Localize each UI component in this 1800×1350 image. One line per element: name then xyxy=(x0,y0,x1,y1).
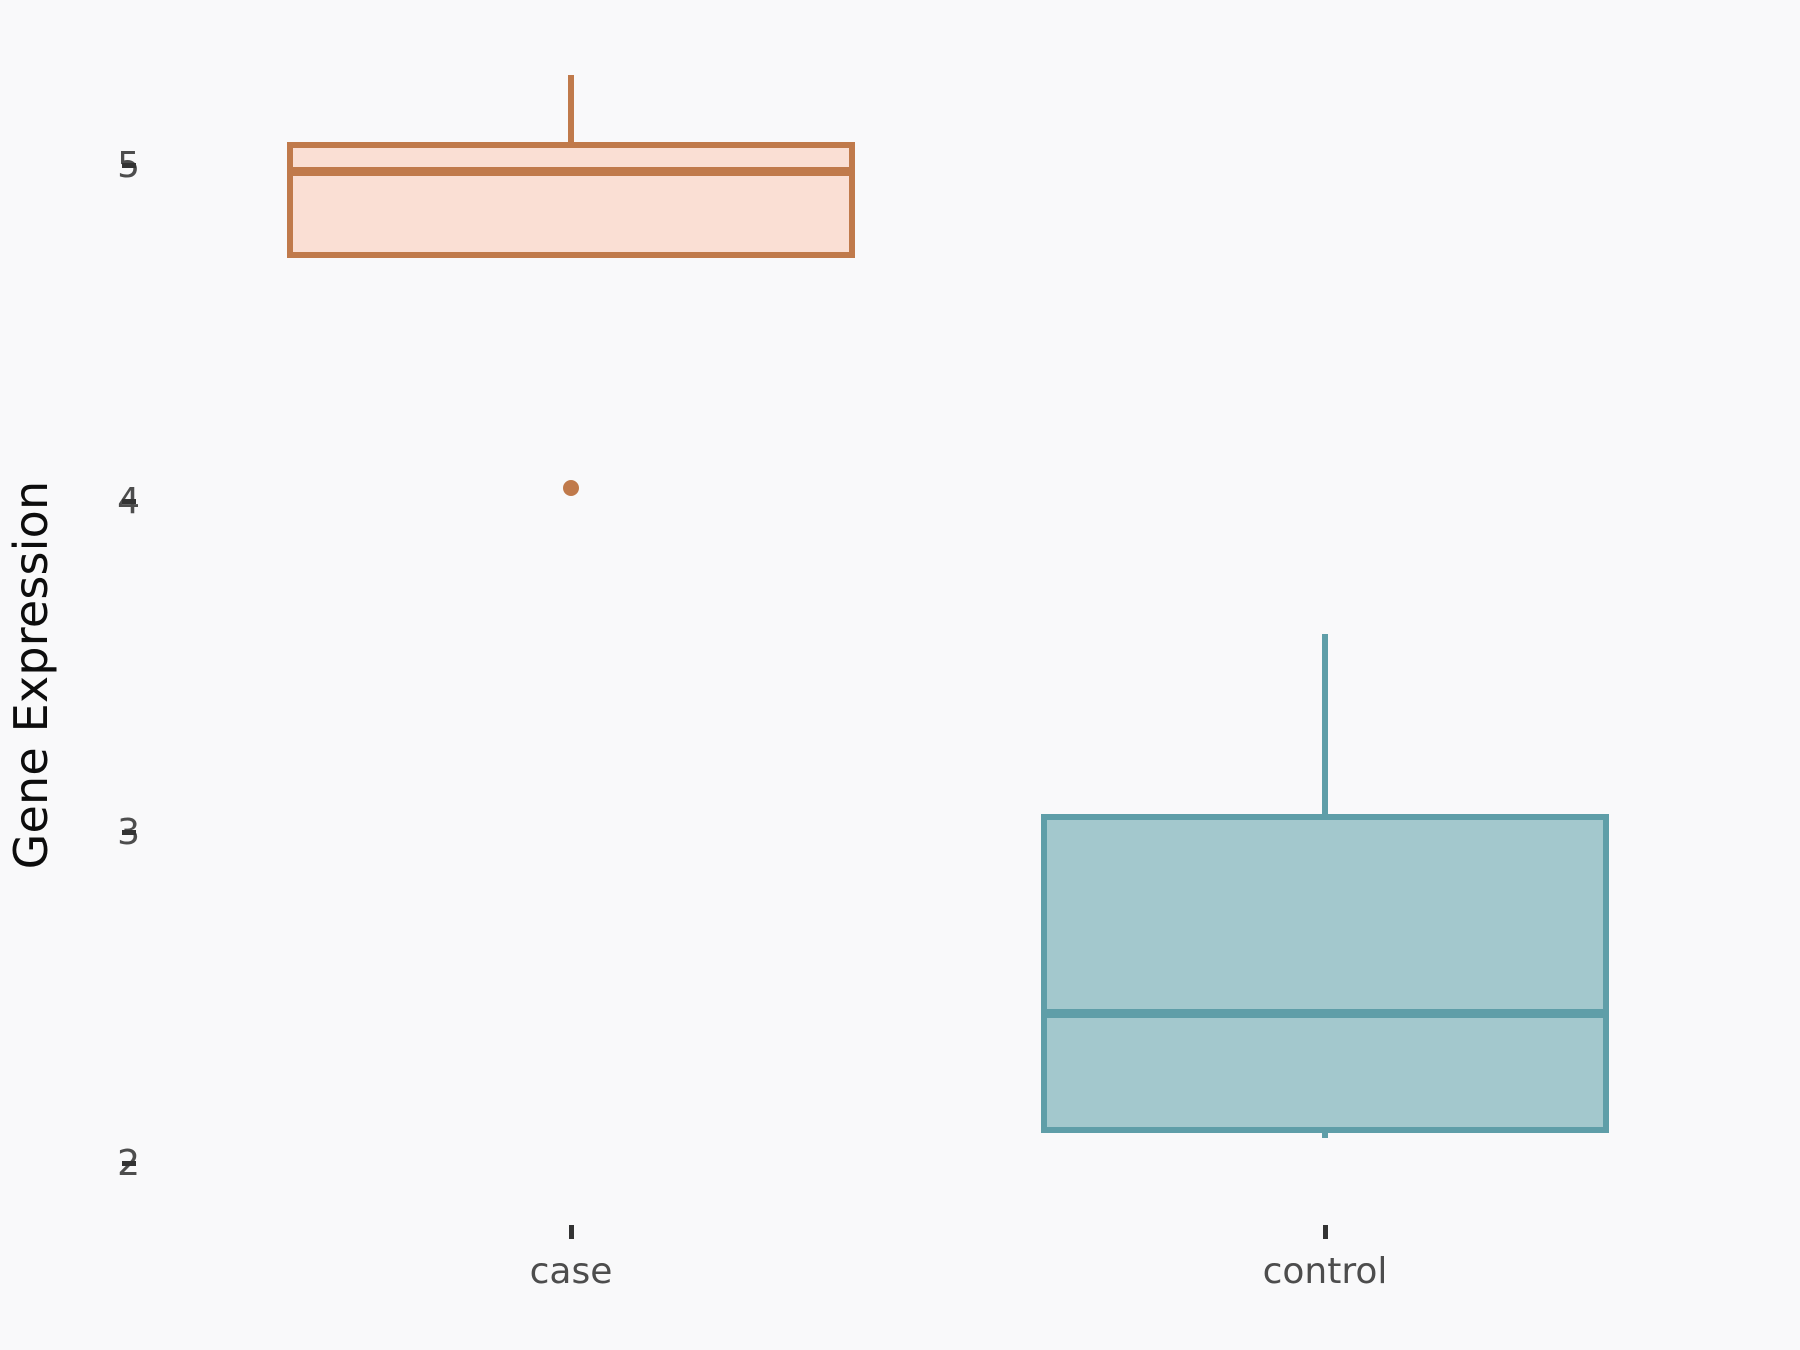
case-median-line xyxy=(287,167,855,176)
control-upper-whisker xyxy=(1322,634,1328,814)
y-tick-label-4: 4 xyxy=(0,481,140,521)
y-tick-label-3: 3 xyxy=(0,812,140,852)
control-box xyxy=(1041,814,1609,1133)
control-median-line xyxy=(1041,1009,1609,1018)
y-tick-mark-4 xyxy=(122,499,136,504)
plot-panel: Gene Expression 5 4 3 2 case con xyxy=(0,0,1800,1350)
y-tick-mark-3 xyxy=(122,830,136,835)
x-tick-label-control: control xyxy=(1175,1248,1475,1294)
case-box xyxy=(287,142,855,258)
y-tick-mark-2 xyxy=(122,1161,136,1166)
boxplot-figure: Gene Expression 5 4 3 2 case con xyxy=(0,0,1800,1350)
x-tick-mark-control xyxy=(1323,1225,1328,1239)
y-tick-label-2: 2 xyxy=(0,1143,140,1183)
y-tick-label-5: 5 xyxy=(0,145,140,185)
y-tick-mark-5 xyxy=(122,163,136,168)
control-lower-whisker xyxy=(1322,1128,1328,1138)
x-tick-mark-case xyxy=(569,1225,574,1239)
case-outlier-point xyxy=(563,480,579,496)
case-upper-whisker xyxy=(568,75,574,142)
x-tick-label-case: case xyxy=(421,1248,721,1294)
